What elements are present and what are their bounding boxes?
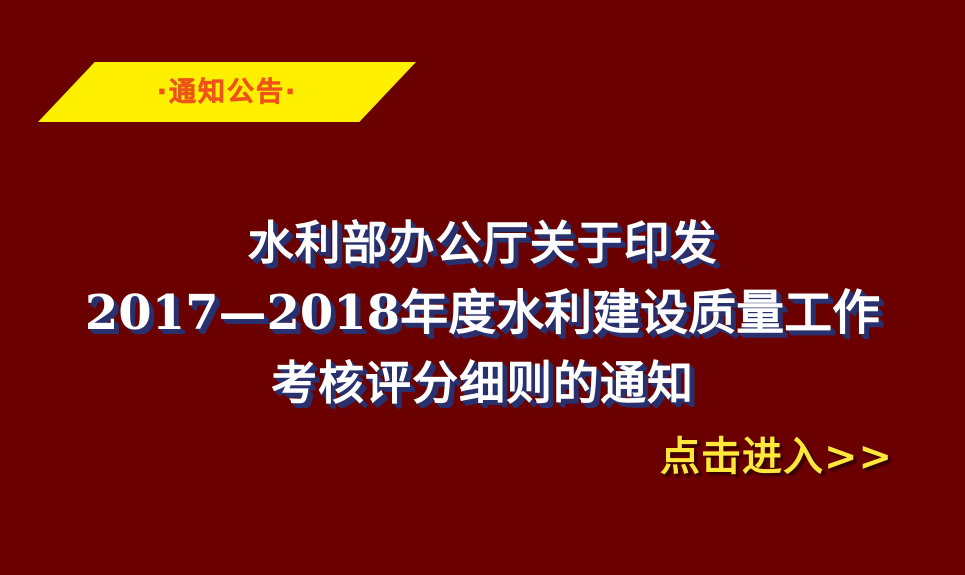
announcement-title-line-2: 2017—2018年度水利建设质量工作 [0,278,965,348]
announcement-title: 水利部办公厅关于印发 2017—2018年度水利建设质量工作 考核评分细则的通知 [0,208,965,418]
cta-container: 点击进入>> [0,432,965,482]
announcement-title-line-1: 水利部办公厅关于印发 [0,208,965,278]
ribbon-label: ·通知公告· [157,79,298,106]
enter-link[interactable]: 点击进入>> [660,432,893,482]
section-ribbon-tag: ·通知公告· [38,62,416,122]
announcement-title-line-3: 考核评分细则的通知 [0,348,965,418]
notice-announcement-banner: ·通知公告· 水利部办公厅关于印发 2017—2018年度水利建设质量工作 考核… [0,0,965,575]
